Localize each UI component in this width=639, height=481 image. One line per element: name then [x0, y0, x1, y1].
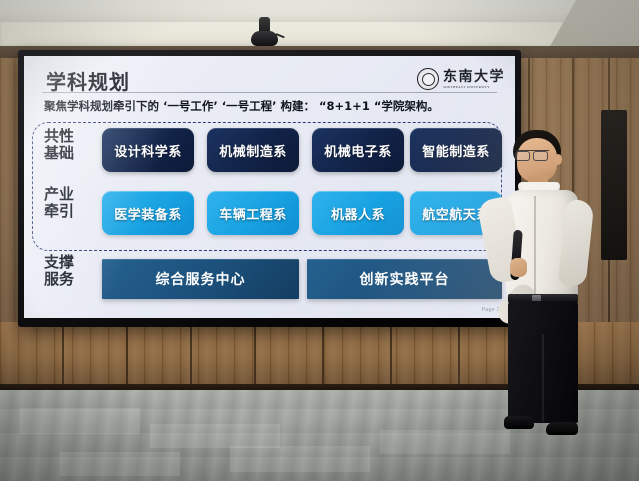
ceiling-camera-icon	[251, 31, 278, 46]
cabinet-seam	[190, 322, 192, 386]
presenter-shoe-left	[504, 416, 534, 429]
row3-label-line2: 服务	[44, 271, 102, 288]
logo-name-cn: 东南大学	[443, 70, 505, 84]
cabinet-seam	[62, 322, 64, 386]
row1-label-line2: 基础	[44, 145, 102, 162]
row-label-support-service: 支撑 服务	[44, 254, 102, 288]
slide-title-text: 学科规划	[46, 70, 130, 94]
presenter-ear	[554, 154, 562, 165]
slide-subtitle: 聚焦学科规划牵引下的 ‘一号工作’ ‘一号工程’ 构建： “8+1+1 “学院架…	[44, 98, 504, 114]
bar-comprehensive-service-center[interactable]: 综合服务中心	[102, 259, 299, 299]
title-divider	[42, 92, 497, 93]
carpet-tile	[230, 446, 370, 472]
cabinet-seam	[254, 322, 256, 386]
carpet-tile	[60, 452, 180, 476]
presentation-slide[interactable]: 学科规划 东南大学 SOUTHEAST UNIVERSITY 聚焦学科规划牵引下…	[24, 56, 515, 318]
logo-name-en: SOUTHEAST UNIVERSITY	[443, 85, 505, 89]
chip-vehicle-engineering[interactable]: 车辆工程系	[207, 191, 299, 235]
chip-medical-equipment[interactable]: 医学装备系	[102, 191, 194, 235]
presenter-hand-holding-mic	[510, 258, 527, 277]
cabinet-seam	[126, 322, 128, 386]
presenter-shoe-right	[546, 422, 578, 435]
row2-label-line2: 牵引	[44, 203, 102, 220]
trouser-leg-seam	[542, 334, 544, 422]
chip-mechanical-manufacturing[interactable]: 机械制造系	[207, 128, 299, 172]
carpet-tile	[20, 408, 140, 434]
ceiling-soffit	[0, 22, 639, 48]
screenshot-root: 学科规划 东南大学 SOUTHEAST UNIVERSITY 聚焦学科规划牵引下…	[0, 0, 639, 481]
chip-mechatronics[interactable]: 机械电子系	[312, 128, 404, 172]
row-label-common-foundation: 共性 基础	[44, 128, 102, 162]
presenter	[470, 120, 615, 450]
slide-title: 学科规划	[46, 66, 130, 95]
row1-label-line1: 共性	[44, 128, 102, 145]
chip-design-science[interactable]: 设计科学系	[102, 128, 194, 172]
row-label-industry-driven: 产业 牵引	[44, 186, 102, 220]
row3-label-line1: 支撑	[44, 254, 102, 271]
cabinet-seam	[390, 322, 392, 386]
carpet-tile	[150, 424, 280, 448]
eyeglasses-icon	[515, 150, 549, 160]
university-logo: 东南大学 SOUTHEAST UNIVERSITY	[417, 68, 505, 90]
ceiling	[0, 0, 639, 22]
cabinet-seam	[322, 322, 324, 386]
cabinet-seam	[458, 322, 460, 386]
row2-label-line1: 产业	[44, 186, 102, 203]
university-seal-icon	[417, 68, 439, 90]
shirt-placket	[534, 196, 536, 294]
chip-robotics[interactable]: 机器人系	[312, 191, 404, 235]
